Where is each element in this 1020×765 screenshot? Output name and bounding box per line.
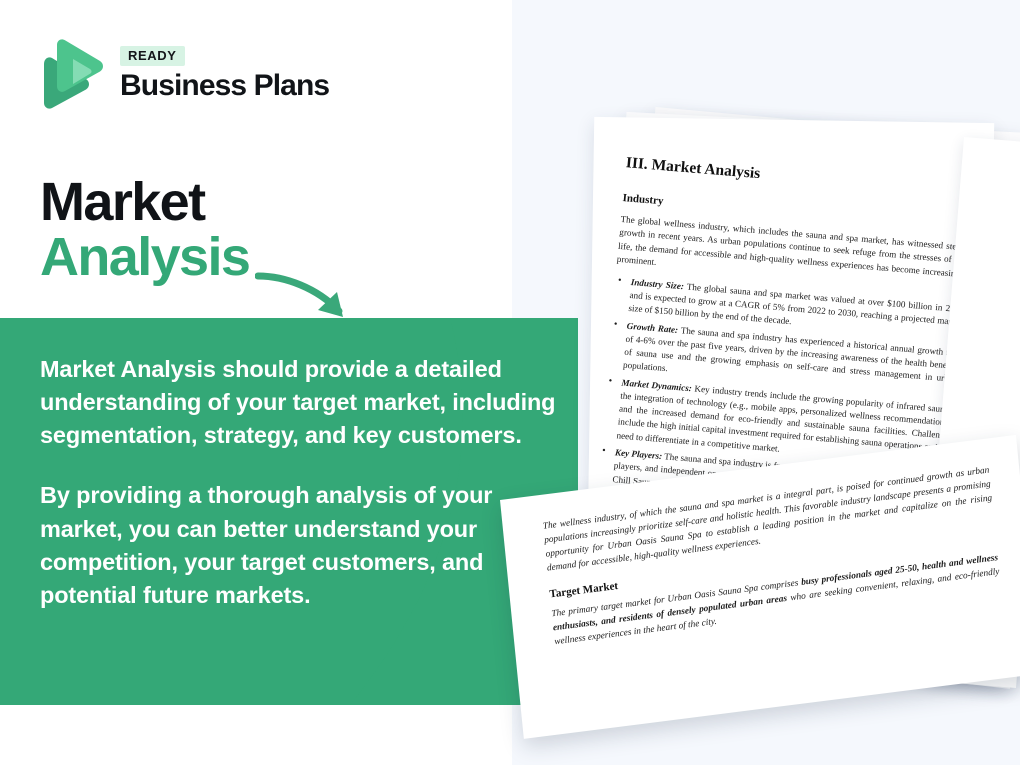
curled-sheet-layer: The wellness industry, of which the saun… [490,70,1020,710]
page-title: Market Analysis [40,175,249,284]
slide-canvas: III. Market Analysis Industry The global… [0,0,1020,765]
brand-name: Business Plans [120,69,329,103]
page-title-line1: Market [40,175,249,229]
page-title-line2: Analysis [40,230,249,284]
brand-logo[interactable]: READY Business Plans [40,33,340,115]
copy-paragraph-1: Market Analysis should provide a detaile… [40,353,560,452]
play-triangles-logo-icon [40,38,106,110]
copy-paragraph-2: By providing a thorough analysis of your… [40,479,560,612]
document-curled-page: The wellness industry, of which the saun… [500,435,1020,739]
ready-badge: READY [120,46,185,66]
brand-logotype: READY Business Plans [120,46,329,102]
description-copy: Market Analysis should provide a detaile… [40,353,560,612]
curved-arrow-down-right-icon [255,268,365,330]
